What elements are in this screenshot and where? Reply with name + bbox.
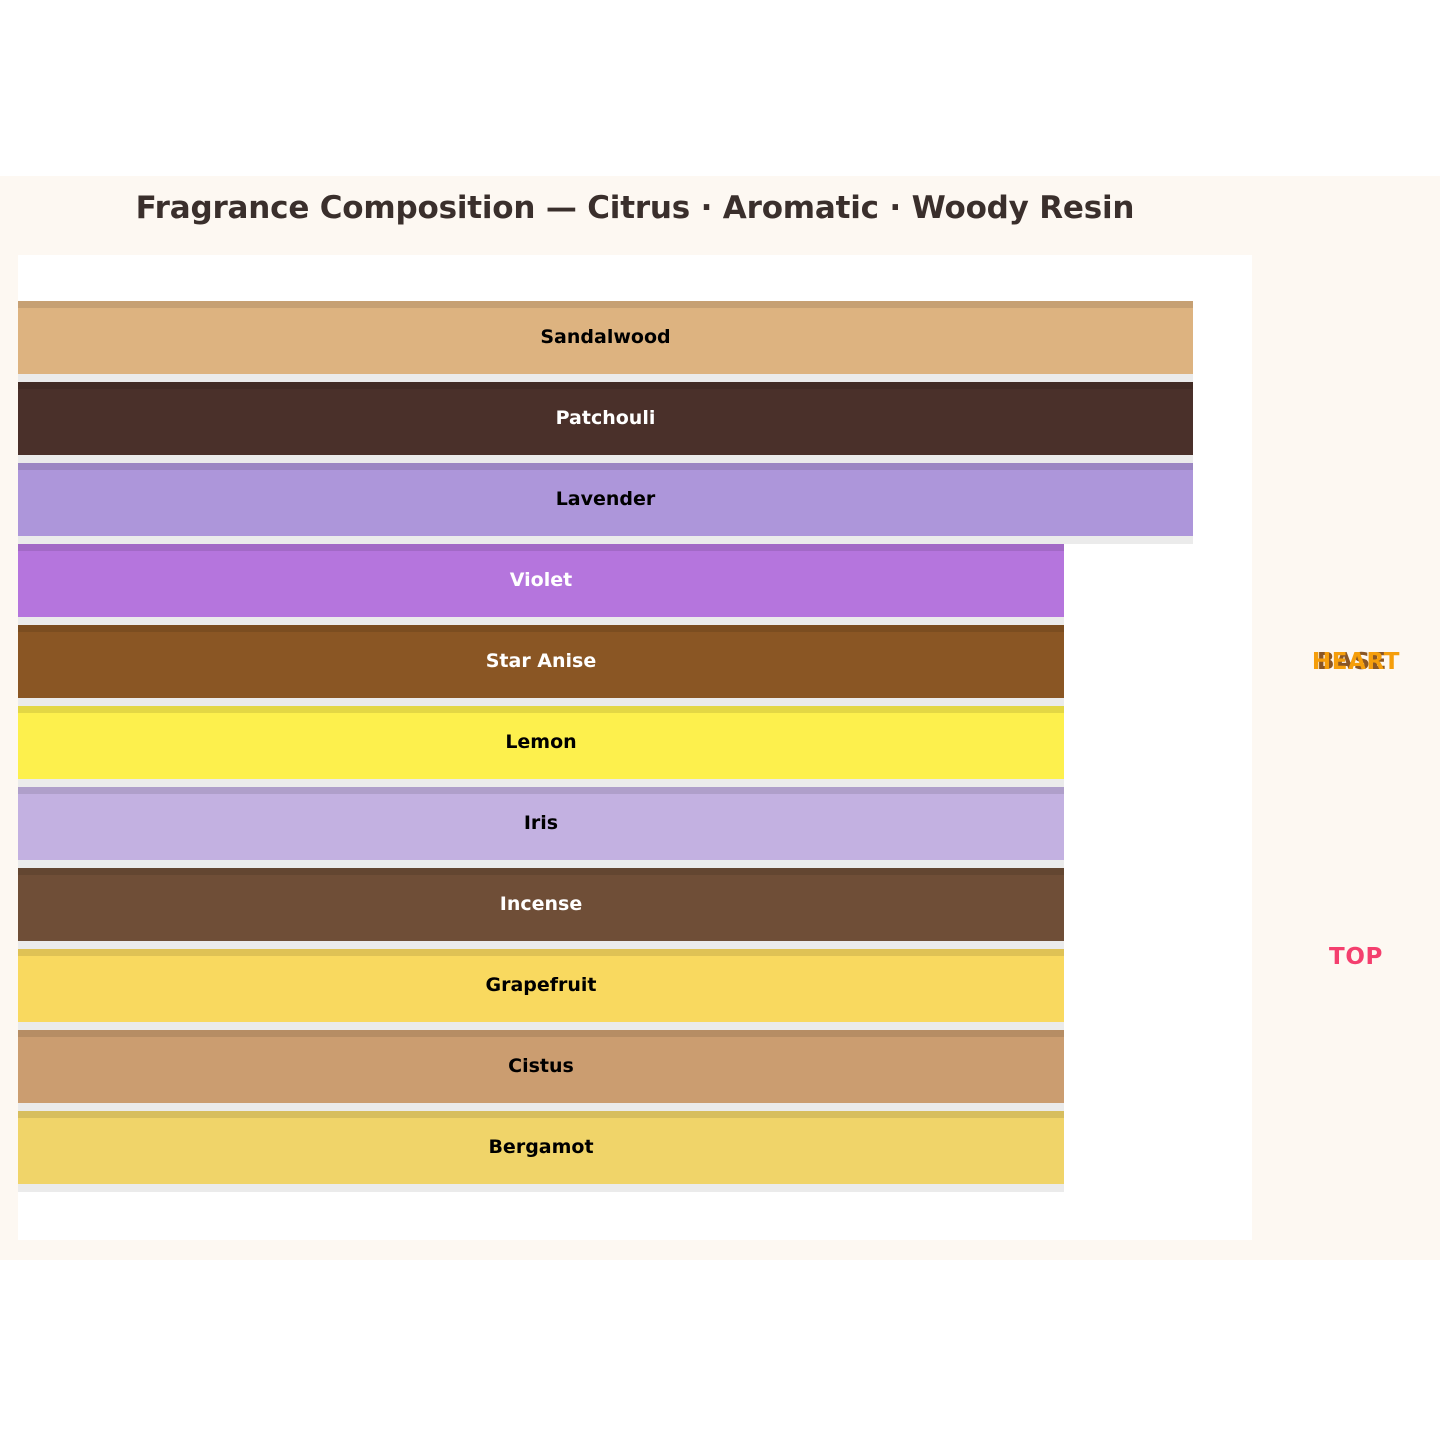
- bar-row[interactable]: Violet: [18, 544, 1252, 625]
- bar-fill[interactable]: [18, 787, 1064, 860]
- bar-top-shade: [18, 1111, 1064, 1118]
- plot-card: SandalwoodPatchouliLavenderVioletStar An…: [18, 255, 1252, 1240]
- bar-top-shade: [18, 382, 1193, 389]
- bar-top-shade: [18, 463, 1193, 470]
- bar-fill[interactable]: [18, 706, 1064, 779]
- bar-fill[interactable]: [18, 544, 1064, 617]
- bar-top-shade: [18, 949, 1064, 956]
- bar-row[interactable]: Lemon: [18, 706, 1252, 787]
- section-label-heart: HEART: [1296, 649, 1416, 675]
- bar-top-shade: [18, 544, 1064, 551]
- bar-fill[interactable]: [18, 382, 1193, 455]
- bar-top-shade: [18, 787, 1064, 794]
- bar-top-shade: [18, 1030, 1064, 1037]
- section-label-top: TOP: [1296, 944, 1416, 970]
- fragrance-composition-chart: Fragrance Composition — Citrus · Aromati…: [0, 0, 1440, 1440]
- bar-fill[interactable]: [18, 868, 1064, 941]
- bar-row[interactable]: Bergamot: [18, 1111, 1252, 1192]
- bar-row[interactable]: Cistus: [18, 1030, 1252, 1111]
- bar-fill[interactable]: [18, 463, 1193, 536]
- bar-fill[interactable]: [18, 625, 1064, 698]
- bar-row[interactable]: Incense: [18, 868, 1252, 949]
- bar-row[interactable]: Star Anise: [18, 625, 1252, 706]
- bar-row[interactable]: Lavender: [18, 463, 1252, 544]
- bar-fill[interactable]: [18, 1030, 1064, 1103]
- bar-top-shade: [18, 625, 1064, 632]
- bar-fill[interactable]: [18, 1111, 1064, 1184]
- bar-top-shade: [18, 868, 1064, 875]
- bar-fill[interactable]: [18, 949, 1064, 1022]
- bar-fill[interactable]: [18, 301, 1193, 374]
- bar-row[interactable]: Grapefruit: [18, 949, 1252, 1030]
- bar-row[interactable]: Iris: [18, 787, 1252, 868]
- bars-layer: SandalwoodPatchouliLavenderVioletStar An…: [18, 255, 1252, 1240]
- page-title: Fragrance Composition — Citrus · Aromati…: [18, 190, 1252, 226]
- bar-top-shade: [18, 706, 1064, 713]
- bar-row[interactable]: Sandalwood: [18, 301, 1252, 382]
- bar-top-shade: [18, 301, 1193, 308]
- bar-row[interactable]: Patchouli: [18, 382, 1252, 463]
